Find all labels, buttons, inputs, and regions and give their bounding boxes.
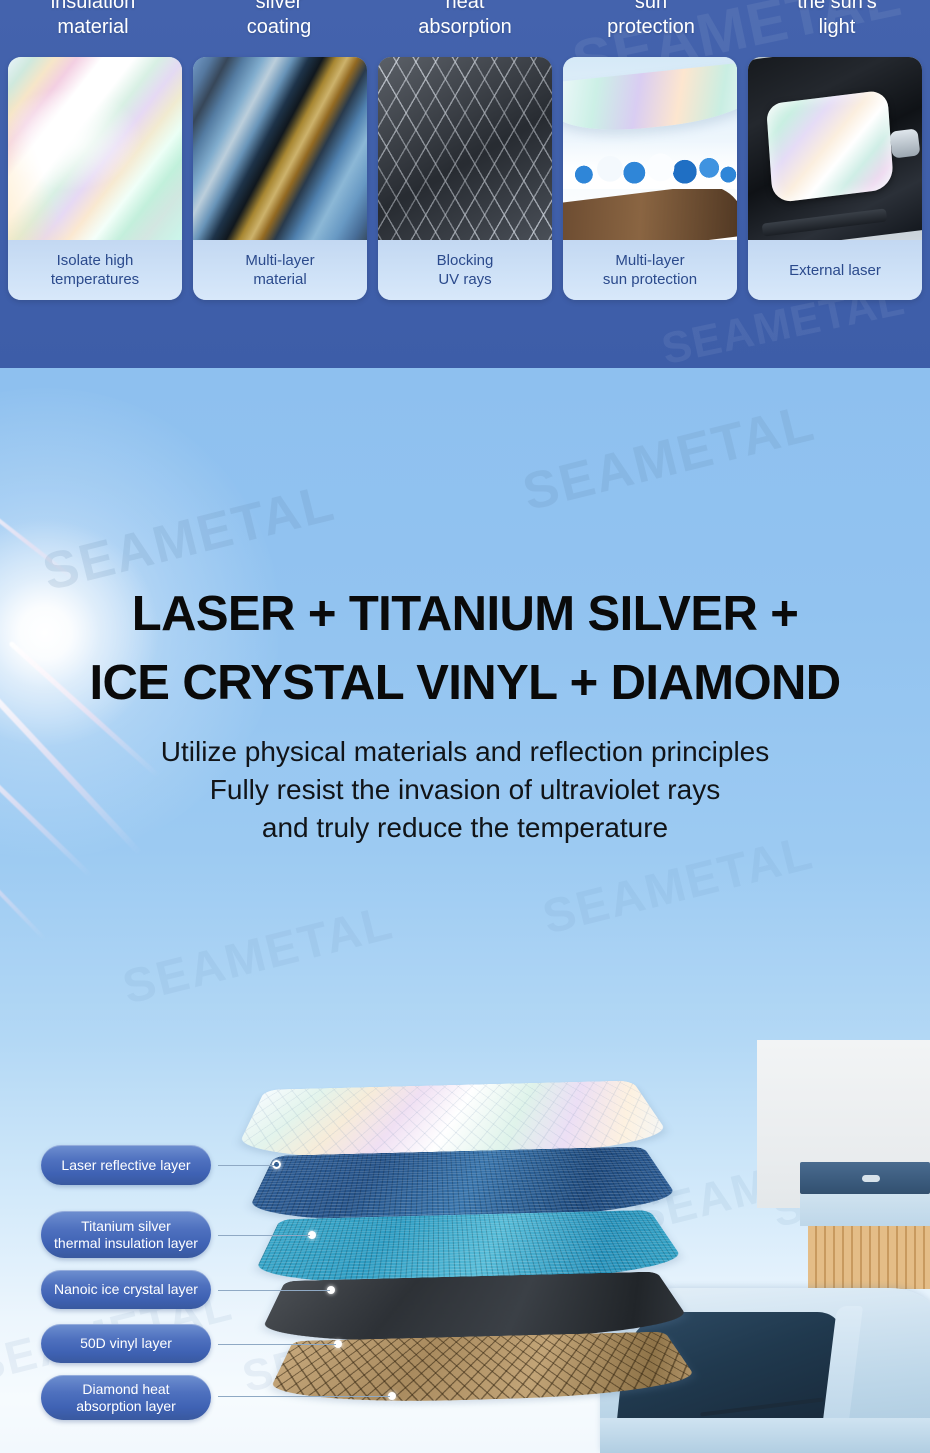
leader-line-diamond-heat-absorption [218, 1396, 390, 1397]
feature-card-the-suns-light[interactable]: External laser [748, 57, 922, 300]
layer-label-text: Nanoic ice crystal layer [54, 1281, 198, 1298]
layer-label-titanium-silver[interactable]: Titanium silver thermal insulation layer [41, 1211, 211, 1258]
subtitle-line-2: Fully resist the invasion of ultraviolet… [0, 771, 930, 809]
feature-heading-sun-protection: sun protection [558, 0, 744, 52]
feature-headings: insulation material silver coating heat … [0, 0, 930, 52]
feature-heading-insulation-material: insulation material [0, 0, 186, 52]
leader-line-titanium-silver [218, 1235, 310, 1236]
headline-line-2: ICE CRYSTAL VINYL + DIAMOND [0, 649, 930, 718]
feature-heading-heat-absorption: heat absorption [372, 0, 558, 52]
subtitle-line-3: and truly reduce the temperature [0, 809, 930, 847]
feature-card-silver-coating[interactable]: Multi-layer material [193, 57, 367, 300]
side-mirror-shape [889, 129, 920, 160]
dark-diamond-lattice-image [378, 57, 552, 240]
blue-gold-satin-fabric-image [193, 57, 367, 240]
feature-card-heat-absorption[interactable]: Blocking UV rays [378, 57, 552, 300]
leader-line-laser-reflective [218, 1165, 274, 1166]
feature-card-sun-protection[interactable]: Multi-layer sun protection [563, 57, 737, 300]
brown-backing-layer [563, 181, 737, 240]
garage-beam [800, 1162, 930, 1194]
holographic-sunshade-shape [766, 90, 894, 204]
layer-label-text: thermal insulation layer [54, 1235, 198, 1252]
feature-card-caption: Multi-layer sun protection [563, 240, 737, 300]
subtitle-line-1: Utilize physical materials and reflectio… [0, 733, 930, 771]
layer-label-text: Titanium silver [54, 1218, 198, 1235]
car-windshield-sunshade-image [748, 57, 922, 240]
leader-line-50d-vinyl [218, 1344, 336, 1345]
leader-line-nanoic-ice-crystal [218, 1290, 330, 1291]
feature-card-caption: Blocking UV rays [378, 240, 552, 300]
feature-card-caption: Multi-layer material [193, 240, 367, 300]
seametal-watermark: SEAMETAL [517, 393, 821, 523]
garage-underpanel [800, 1194, 930, 1226]
layer-label-nanoic-ice-crystal[interactable]: Nanoic ice crystal layer [41, 1270, 211, 1309]
layer-label-50d-vinyl[interactable]: 50D vinyl layer [41, 1324, 211, 1363]
wood-slat-wall [808, 1226, 930, 1289]
feature-card-list: Isolate high temperatures Multi-layer ma… [8, 57, 922, 300]
layer-label-text: Laser reflective layer [61, 1157, 190, 1174]
car-hood [600, 1418, 930, 1453]
seametal-watermark: SEAMETAL [117, 895, 399, 1015]
layer-label-diamond-heat-absorption[interactable]: Diamond heat absorption layer [41, 1375, 211, 1420]
feature-heading-silver-coating: silver coating [186, 0, 372, 52]
layer-label-laser-reflective[interactable]: Laser reflective layer [41, 1145, 211, 1185]
product-detail-page: SEAMETAL SEAMETAL insulation material si… [0, 0, 930, 1453]
feature-heading-the-suns-light: the sun's light [744, 0, 930, 52]
layer-label-text: absorption layer [76, 1398, 176, 1415]
hero-subtitle: Utilize physical materials and reflectio… [0, 733, 930, 847]
page-title: LASER + TITANIUM SILVER + ICE CRYSTAL VI… [0, 580, 930, 718]
layer-label-text: Diamond heat [76, 1381, 176, 1398]
layered-beads-cutaway-image [563, 57, 737, 240]
headline-line-1: LASER + TITANIUM SILVER + [0, 580, 930, 649]
layer-label-text: 50D vinyl layer [80, 1335, 172, 1352]
feature-card-caption: Isolate high temperatures [8, 240, 182, 300]
feature-strip: SEAMETAL SEAMETAL insulation material si… [0, 0, 930, 368]
holographic-film-swatch-image [8, 57, 182, 240]
feature-card-caption: External laser [748, 240, 922, 300]
feature-card-insulation-material[interactable]: Isolate high temperatures [8, 57, 182, 300]
beam-vent [862, 1175, 880, 1182]
